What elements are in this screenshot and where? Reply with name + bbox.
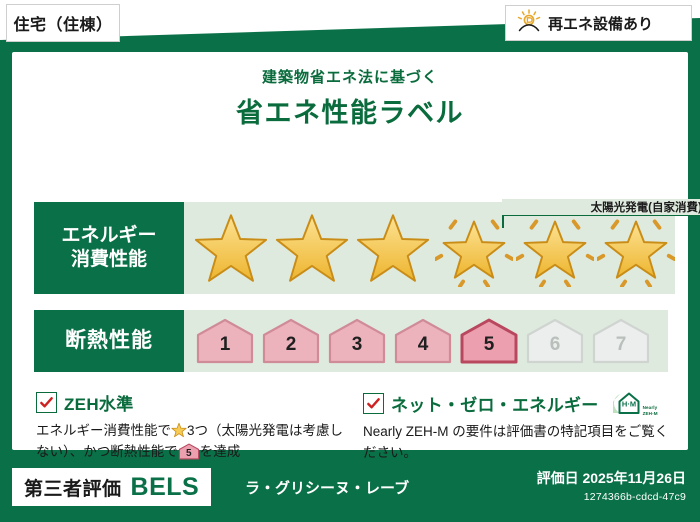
check-icon xyxy=(36,392,57,413)
logo-caption-line2: ZEH-M xyxy=(643,411,658,416)
insulation-level-5-current: 5 xyxy=(458,317,520,365)
nearly-zeh-m-caption: Nearly ZEH-M xyxy=(643,405,658,416)
insulation-level-num: 1 xyxy=(194,334,256,356)
label-subtitle: 建築物省エネ法に基づく xyxy=(12,66,688,87)
energy-label-line1: エネルギー xyxy=(61,224,156,248)
page-title: 省エネ性能ラベル xyxy=(12,91,688,130)
renewable-badge-label: 再エネ設備あり xyxy=(548,13,653,34)
note-zeh-body-post: を達成 xyxy=(200,444,241,459)
check-icon xyxy=(363,393,384,414)
insulation-level-3: 3 xyxy=(326,317,388,365)
energy-performance-row: エネルギー 消費性能 太陽光発電(自家消費)分 xyxy=(34,202,668,294)
insulation-level-2: 2 xyxy=(260,317,322,365)
note-zeh-header: ZEH水準 xyxy=(36,390,349,415)
criteria-notes: ZEH水準 エネルギー消費性能で3つ（太陽光発電は考慮しない）、かつ断熱性能で5… xyxy=(36,390,676,464)
evaluation-id: 1274366b-cdcd-47c9 xyxy=(537,491,686,503)
energy-row-label: エネルギー 消費性能 xyxy=(34,202,184,294)
star-rating xyxy=(184,209,675,287)
note-zeh-body: エネルギー消費性能で3つ（太陽光発電は考慮しない）、かつ断熱性能で5を達成 xyxy=(36,421,349,463)
star-solar-icon xyxy=(597,209,675,287)
footer-bar: 第三者評価 BELS ラ・グリシーヌ・レーブ 評価日 2025年11月26日 1… xyxy=(0,460,700,522)
insulation-level-6: 6 xyxy=(524,317,586,365)
house-type-tag: 住宅（住棟） xyxy=(6,4,120,42)
star-solar-icon xyxy=(435,209,513,287)
renewable-equipment-badge: 再エネ設備あり xyxy=(505,5,692,41)
insulation-level-scale: 1 2 3 4 5 xyxy=(184,317,652,365)
insulation-level-num: 2 xyxy=(260,334,322,356)
star-icon xyxy=(354,209,432,287)
star-icon xyxy=(171,422,187,438)
insulation-level-num: 5 xyxy=(458,334,520,356)
sun-solar-icon xyxy=(516,9,542,38)
insulation-level-7: 7 xyxy=(590,317,652,365)
bels-certification-badge: 第三者評価 BELS xyxy=(12,468,211,506)
insulation-level-num: 7 xyxy=(590,334,652,356)
star-solar-icon xyxy=(516,209,594,287)
bels-jp-label: 第三者評価 xyxy=(24,474,122,501)
note-nze-title: ネット・ゼロ・エネルギー xyxy=(391,391,599,416)
logo-caption-line1: Nearly xyxy=(643,405,658,410)
energy-row-body: 太陽光発電(自家消費)分 xyxy=(184,202,675,294)
label-card: 建築物省エネ法に基づく 省エネ性能ラベル エネルギー 消費性能 太陽光発電(自家… xyxy=(12,52,688,450)
star-icon xyxy=(273,209,351,287)
insulation-level-4: 4 xyxy=(392,317,454,365)
note-nze-header: ネット・ゼロ・エネルギー H·M Nearly ZEH-M xyxy=(363,390,676,416)
energy-label-line2: 消費性能 xyxy=(71,248,147,272)
note-zeh-title: ZEH水準 xyxy=(64,390,134,415)
insulation-row-body: 1 2 3 4 5 xyxy=(184,310,668,372)
house-type-label: 住宅（住棟） xyxy=(13,11,112,35)
building-name: ラ・グリシーヌ・レーブ xyxy=(245,477,409,498)
bels-en-label: BELS xyxy=(131,473,200,502)
insulation-performance-row: 断熱性能 1 2 3 4 xyxy=(34,310,668,372)
insulation-level-num: 6 xyxy=(524,334,586,356)
nearly-zeh-m-logo: H·M Nearly ZEH-M xyxy=(610,390,658,416)
note-net-zero-energy: ネット・ゼロ・エネルギー H·M Nearly ZEH-M Nearly ZEH… xyxy=(363,390,676,464)
svg-text:H·M: H·M xyxy=(622,400,636,409)
note-zeh-body-pre: エネルギー消費性能で xyxy=(36,423,171,438)
note-zeh-standard: ZEH水準 エネルギー消費性能で3つ（太陽光発電は考慮しない）、かつ断熱性能で5… xyxy=(36,390,349,464)
evaluation-info: 評価日 2025年11月26日 1274366b-cdcd-47c9 xyxy=(537,468,686,503)
insulation-label: 断熱性能 xyxy=(65,328,153,354)
note-nze-body: Nearly ZEH-M の要件は評価書の特記項目をご覧ください。 xyxy=(363,422,676,464)
evaluation-date: 評価日 2025年11月26日 xyxy=(537,468,686,488)
insulation-level-num: 4 xyxy=(392,334,454,356)
insulation-row-label: 断熱性能 xyxy=(34,310,184,372)
insulation-level-1: 1 xyxy=(194,317,256,365)
star-icon xyxy=(192,209,270,287)
insulation-level-inline-icon: 5 xyxy=(178,443,200,460)
insulation-level-num: 3 xyxy=(326,334,388,356)
